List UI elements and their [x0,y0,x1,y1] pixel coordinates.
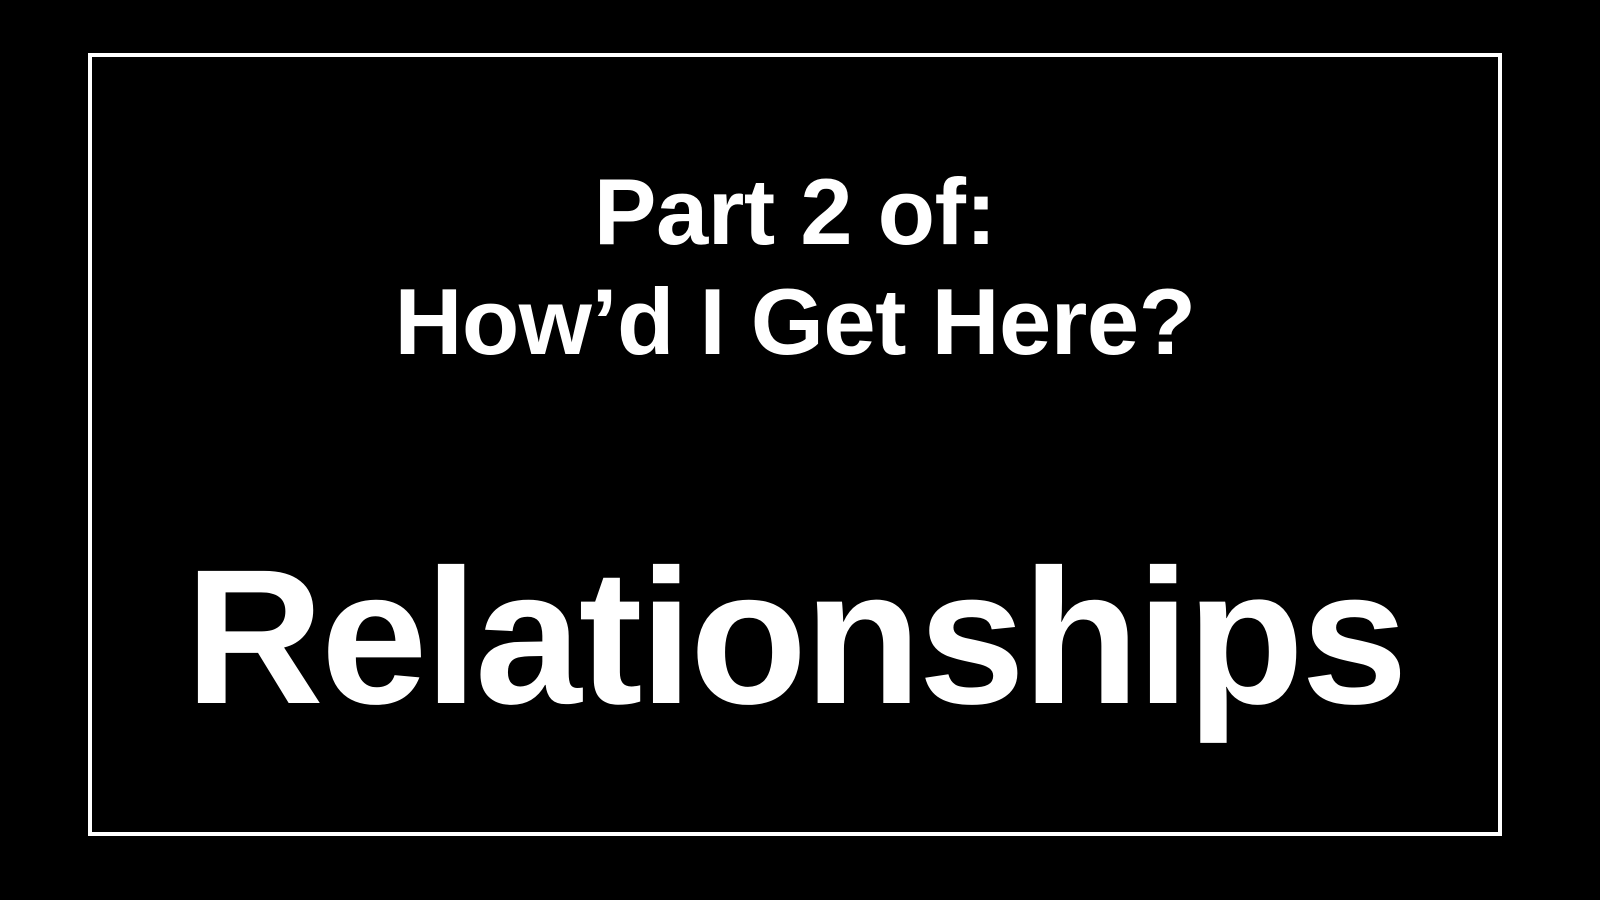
subtitle-line-2: How’d I Get Here? [92,267,1498,377]
subtitle-block: Part 2 of: How’d I Get Here? [92,157,1498,377]
slide-border-frame: Part 2 of: How’d I Get Here? Relationshi… [88,53,1502,836]
slide-content: Part 2 of: How’d I Get Here? Relationshi… [92,57,1498,832]
slide-headline: Relationships [92,537,1498,737]
subtitle-line-1: Part 2 of: [92,157,1498,267]
headline-block: Relationships [92,537,1498,737]
title-slide: Part 2 of: How’d I Get Here? Relationshi… [0,0,1600,900]
